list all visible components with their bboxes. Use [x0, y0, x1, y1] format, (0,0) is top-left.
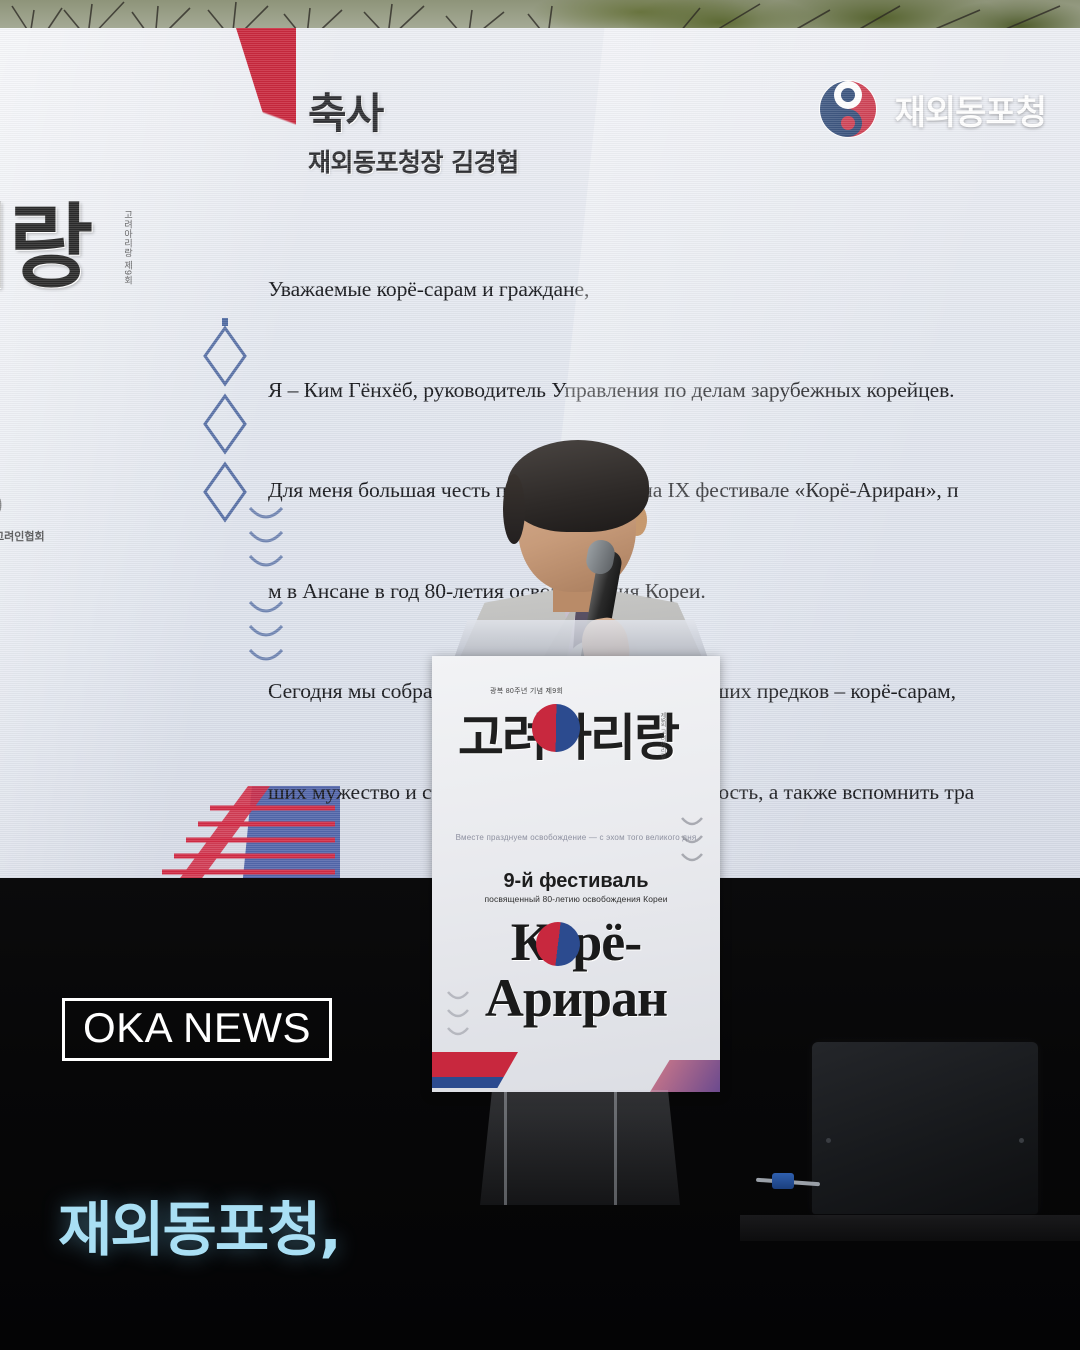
podium-vertical-note: 제9회 고려아리랑: [658, 712, 667, 759]
slide-heading: 축사 재외동포청장 김경협: [308, 80, 519, 179]
agency-logo-label: 재외동포청: [895, 85, 1046, 134]
agency-logo: 재외동포청: [817, 78, 1046, 140]
podium-corner-graphic-right: [650, 1060, 720, 1092]
slide-left-logo-vertical: 고려아리랑 제9회: [122, 210, 135, 285]
speaker-hair: [507, 440, 649, 532]
slide-heading-sub: 재외동포청장 김경협: [308, 143, 519, 179]
decor-red-corner: [236, 28, 296, 218]
slide-left-mark: 고려인협회: [0, 528, 45, 544]
headline-line-1: 재외동포청,: [58, 1184, 818, 1276]
podium-sign: 광복 80주년 기념 제9회 고려아리랑 제9회 고려아리랑 Вместе пр…: [432, 656, 720, 1092]
podium-big-title-line2: Ариран: [432, 970, 720, 1026]
news-badge: OKA NEWS: [62, 998, 332, 1061]
slide-heading-main: 축사: [308, 80, 519, 141]
laptop-hinge-dot: [1019, 1138, 1024, 1143]
news-card: 리랑 고려아리랑 제9회 0 고려인협회: [0, 0, 1080, 1350]
laptop: [812, 1042, 1038, 1214]
speech-line: Уважаемые корё-сарам и граждане,: [268, 273, 1080, 307]
taegeuk-emblem-icon: [817, 78, 879, 140]
podium-festival-sub: посвященный 80-летию освобождения Кореи: [432, 894, 720, 904]
podium-supertitle: 광복 80주년 기념 제9회: [490, 686, 563, 696]
podium-russian-tagline: Вместе празднуем освобождение — с эхом т…: [432, 832, 720, 843]
speech-line: Я – Ким Гёнхёб, руководитель Управления …: [268, 374, 1080, 408]
podium-corner-graphic-left: [432, 1052, 518, 1088]
podium-chevron-left-icon: [444, 986, 472, 1050]
slide-left-logo-text: 리랑: [0, 204, 176, 292]
podium-festival-label: 9-й фестиваль: [432, 870, 720, 893]
podium-chevron-right-icon: [678, 812, 706, 876]
slide-left-logo: 리랑 고려아리랑 제9회 0: [0, 204, 176, 564]
laptop-hinge-dot: [826, 1138, 831, 1143]
slide-left-logo-number: 0: [0, 490, 2, 521]
headline: 재외동포청, ‘제9회 고려아리랑’ 참석: [58, 1092, 818, 1350]
